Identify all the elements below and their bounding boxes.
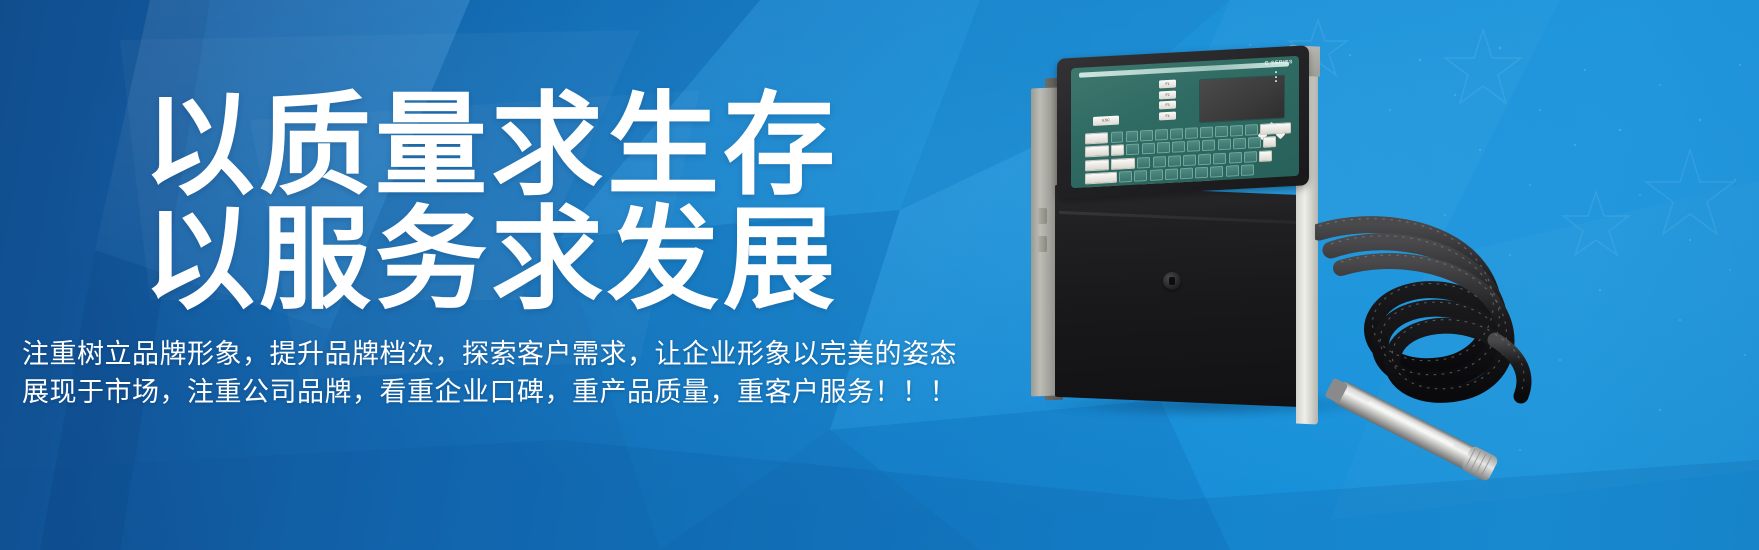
- printer-hinge-lower: [1037, 236, 1047, 252]
- key-c[interactable]: [1150, 169, 1163, 181]
- key-caps[interactable]: [1085, 146, 1109, 158]
- printer-print-head-nozzle: [1295, 370, 1535, 490]
- key-4[interactable]: [1155, 129, 1168, 141]
- panel-brand-label: G SERIES: [1265, 59, 1293, 67]
- key-f[interactable]: [1183, 154, 1196, 166]
- panel-indicator-dots: [1275, 71, 1277, 85]
- key-i[interactable]: [1233, 138, 1246, 150]
- subtitle-line-2: 展现于市场，注重公司品牌，看重企业口碑，重产品质量，重客户服务！！！: [22, 370, 957, 409]
- printer-lcd-screen: [1199, 75, 1285, 124]
- key-backspace[interactable]: [1260, 122, 1291, 135]
- key-o[interactable]: [1248, 137, 1261, 149]
- printer-door-lock: [1163, 272, 1181, 290]
- key-v[interactable]: [1165, 169, 1178, 181]
- key-alt[interactable]: [1111, 157, 1135, 169]
- key-7[interactable]: [1200, 126, 1213, 138]
- key-z[interactable]: [1119, 171, 1132, 183]
- key-2[interactable]: [1126, 131, 1139, 143]
- key-1[interactable]: [1111, 131, 1124, 143]
- headline-block: 以质量求生存 以服务求发展 注重树立品牌形象，提升品牌档次，探索客户需求，让企业…: [0, 0, 1000, 550]
- key-d[interactable]: [1168, 155, 1181, 167]
- key-del[interactable]: [1263, 136, 1276, 148]
- key-5[interactable]: [1170, 128, 1183, 140]
- key-n[interactable]: [1195, 167, 1208, 179]
- key-j[interactable]: [1229, 152, 1242, 164]
- key-e[interactable]: [1157, 142, 1170, 154]
- key-0[interactable]: [1245, 124, 1258, 136]
- key-w[interactable]: [1142, 143, 1155, 155]
- function-key-f1[interactable]: F1: [1159, 79, 1176, 88]
- key-9[interactable]: [1230, 125, 1243, 137]
- key-r[interactable]: [1172, 141, 1185, 153]
- key-shift[interactable]: [1085, 172, 1117, 185]
- key-b[interactable]: [1180, 168, 1193, 180]
- printer-control-panel: G SERIES F1 F2 F3 F4 ESC: [1071, 56, 1299, 188]
- headline-line-1: 以质量求生存: [143, 90, 839, 202]
- key-3[interactable]: [1140, 130, 1153, 142]
- key-t[interactable]: [1187, 141, 1200, 153]
- escape-key[interactable]: ESC: [1093, 116, 1119, 126]
- function-key-f4[interactable]: F4: [1159, 111, 1176, 120]
- key-m[interactable]: [1210, 166, 1223, 178]
- key-g[interactable]: [1198, 153, 1211, 165]
- key-s[interactable]: [1153, 156, 1166, 168]
- function-key-f2[interactable]: F2: [1159, 90, 1176, 99]
- key-k[interactable]: [1244, 151, 1257, 163]
- key-period[interactable]: [1241, 164, 1254, 176]
- key-a[interactable]: [1137, 157, 1150, 169]
- key-enter2[interactable]: [1259, 150, 1272, 162]
- function-key-f3[interactable]: F3: [1159, 101, 1176, 110]
- promo-banner: 以质量求生存 以服务求发展 注重树立品牌形象，提升品牌档次，探索客户需求，让企业…: [0, 0, 1759, 550]
- key-x[interactable]: [1134, 170, 1147, 182]
- key-q[interactable]: [1126, 144, 1139, 156]
- key-comma[interactable]: [1226, 165, 1239, 177]
- key-u[interactable]: [1218, 139, 1231, 151]
- key-8[interactable]: [1215, 126, 1228, 138]
- headline-line-2: 以服务求发展: [143, 204, 839, 316]
- function-key-group[interactable]: F1 F2 F3 F4: [1159, 79, 1176, 122]
- subtitle-line-1: 注重树立品牌形象，提升品牌档次，探索客户需求，让企业形象以完美的姿态: [22, 332, 957, 371]
- key-y[interactable]: [1202, 140, 1215, 152]
- key-enter[interactable]: [1085, 132, 1108, 144]
- key-tab[interactable]: [1111, 145, 1124, 157]
- product-image-inkjet-printer: G SERIES F1 F2 F3 F4 ESC: [1015, 40, 1435, 460]
- key-ctrl[interactable]: [1085, 159, 1109, 171]
- key-h[interactable]: [1213, 153, 1226, 165]
- printer-hinge-upper: [1037, 208, 1047, 224]
- key-6[interactable]: [1185, 127, 1198, 139]
